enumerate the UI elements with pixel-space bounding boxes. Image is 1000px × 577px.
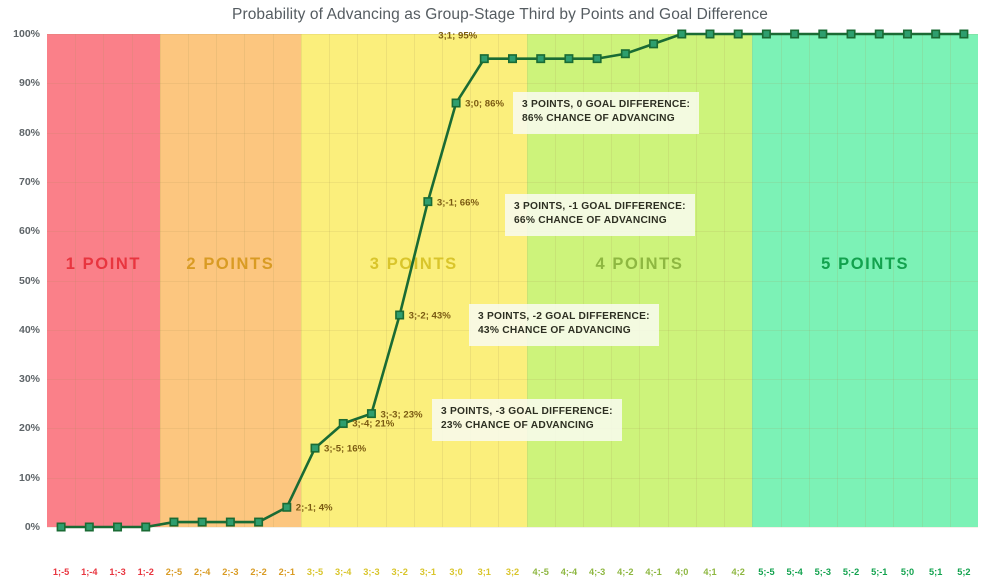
x-tick-2--3: 2;-3 (222, 567, 238, 577)
y-tick-70pct: 70% (0, 176, 40, 188)
data-point-marker[interactable] (706, 30, 713, 37)
data-point-marker[interactable] (340, 420, 347, 427)
callout-box: 3 POINTS, 0 GOAL DIFFERENCE:86% CHANCE O… (513, 92, 699, 134)
data-point-marker[interactable] (86, 523, 93, 530)
data-point-marker[interactable] (763, 30, 770, 37)
x-tick-3-1: 3;1 (478, 567, 491, 577)
data-point-marker[interactable] (593, 55, 600, 62)
data-point-marker[interactable] (876, 30, 883, 37)
x-tick-4--3: 4;-3 (589, 567, 605, 577)
point-label-3-0: 3;0; 86% (465, 99, 504, 110)
y-tick-10pct: 10% (0, 472, 40, 484)
callout-line-1: 3 POINTS, -1 GOAL DIFFERENCE: (514, 200, 686, 214)
y-tick-40pct: 40% (0, 324, 40, 336)
x-tick-5-1: 5;1 (929, 567, 942, 577)
chart-container: Probability of Advancing as Group-Stage … (0, 0, 1000, 555)
data-point-marker[interactable] (932, 30, 939, 37)
data-point-marker[interactable] (227, 518, 234, 525)
x-tick-3--1: 3;-1 (420, 567, 436, 577)
horizontal-gridline (47, 527, 978, 528)
y-tick-100pct: 100% (0, 28, 40, 40)
data-point-marker[interactable] (678, 30, 685, 37)
point-label-3--5: 3;-5; 16% (324, 444, 366, 455)
x-tick-4--5: 4;-5 (533, 567, 549, 577)
callout-line-1: 3 POINTS, 0 GOAL DIFFERENCE: (522, 98, 690, 112)
x-tick-1--5: 1;-5 (53, 567, 69, 577)
callout-box: 3 POINTS, -1 GOAL DIFFERENCE:66% CHANCE … (505, 194, 695, 236)
point-label-3--3: 3;-3; 23% (380, 409, 422, 420)
data-point-marker[interactable] (142, 523, 149, 530)
x-tick-3--2: 3;-2 (391, 567, 407, 577)
y-tick-80pct: 80% (0, 127, 40, 139)
callout-line-2: 86% CHANCE OF ADVANCING (522, 112, 690, 126)
y-tick-0pct: 0% (0, 521, 40, 533)
x-tick-4--2: 4;-2 (617, 567, 633, 577)
data-point-marker[interactable] (283, 504, 290, 511)
callout-line-1: 3 POINTS, -3 GOAL DIFFERENCE: (441, 405, 613, 419)
data-point-marker[interactable] (396, 311, 403, 318)
x-tick-3--3: 3;-3 (363, 567, 379, 577)
x-tick-3-0: 3;0 (449, 567, 462, 577)
x-tick-3--4: 3;-4 (335, 567, 351, 577)
callout-line-2: 66% CHANCE OF ADVANCING (514, 214, 686, 228)
point-label-2--1: 2;-1; 4% (296, 503, 333, 514)
data-point-marker[interactable] (819, 30, 826, 37)
x-tick-5-2: 5;2 (957, 567, 970, 577)
data-point-marker[interactable] (735, 30, 742, 37)
data-point-marker[interactable] (114, 523, 121, 530)
callout-box: 3 POINTS, -2 GOAL DIFFERENCE:43% CHANCE … (469, 304, 659, 346)
x-tick-2--4: 2;-4 (194, 567, 210, 577)
x-tick-1--2: 1;-2 (138, 567, 154, 577)
data-point-marker[interactable] (452, 99, 459, 106)
x-tick-5--4: 5;-4 (786, 567, 802, 577)
x-tick-5--3: 5;-3 (815, 567, 831, 577)
data-point-marker[interactable] (368, 410, 375, 417)
data-point-marker[interactable] (170, 518, 177, 525)
data-point-marker[interactable] (255, 518, 262, 525)
data-point-marker[interactable] (904, 30, 911, 37)
point-label-3--1: 3;-1; 66% (437, 197, 479, 208)
x-tick-4-0: 4;0 (675, 567, 688, 577)
data-point-marker[interactable] (622, 50, 629, 57)
data-point-marker[interactable] (57, 523, 64, 530)
point-label-3--2: 3;-2; 43% (409, 311, 451, 322)
x-tick-5--5: 5;-5 (758, 567, 774, 577)
data-point-marker[interactable] (311, 444, 318, 451)
callout-line-2: 23% CHANCE OF ADVANCING (441, 419, 613, 433)
x-tick-4--4: 4;-4 (561, 567, 577, 577)
y-tick-90pct: 90% (0, 77, 40, 89)
data-point-marker[interactable] (847, 30, 854, 37)
data-point-marker[interactable] (509, 55, 516, 62)
data-point-marker[interactable] (198, 518, 205, 525)
data-point-marker[interactable] (650, 40, 657, 47)
data-point-marker[interactable] (481, 55, 488, 62)
x-tick-3-2: 3;2 (506, 567, 519, 577)
x-tick-4-1: 4;1 (703, 567, 716, 577)
data-point-marker[interactable] (565, 55, 572, 62)
y-tick-20pct: 20% (0, 422, 40, 434)
x-tick-5--1: 5;-1 (871, 567, 887, 577)
data-point-marker[interactable] (424, 198, 431, 205)
x-tick-2--1: 2;-1 (279, 567, 295, 577)
x-tick-2--5: 2;-5 (166, 567, 182, 577)
chart-title: Probability of Advancing as Group-Stage … (0, 6, 1000, 24)
x-tick-1--4: 1;-4 (81, 567, 97, 577)
x-tick-1--3: 1;-3 (109, 567, 125, 577)
data-point-marker[interactable] (537, 55, 544, 62)
callout-line-1: 3 POINTS, -2 GOAL DIFFERENCE: (478, 310, 650, 324)
x-tick-4-2: 4;2 (732, 567, 745, 577)
data-point-marker[interactable] (960, 30, 967, 37)
data-point-marker[interactable] (791, 30, 798, 37)
point-label-3-1: 3;1; 95% (438, 30, 477, 41)
y-tick-60pct: 60% (0, 225, 40, 237)
x-tick-2--2: 2;-2 (250, 567, 266, 577)
x-tick-5-0: 5;0 (901, 567, 914, 577)
x-tick-3--5: 3;-5 (307, 567, 323, 577)
callout-line-2: 43% CHANCE OF ADVANCING (478, 324, 650, 338)
x-tick-4--1: 4;-1 (645, 567, 661, 577)
y-tick-50pct: 50% (0, 275, 40, 287)
x-tick-5--2: 5;-2 (843, 567, 859, 577)
callout-box: 3 POINTS, -3 GOAL DIFFERENCE:23% CHANCE … (432, 399, 622, 441)
y-tick-30pct: 30% (0, 373, 40, 385)
point-label-3--4: 3;-4; 21% (352, 419, 394, 430)
